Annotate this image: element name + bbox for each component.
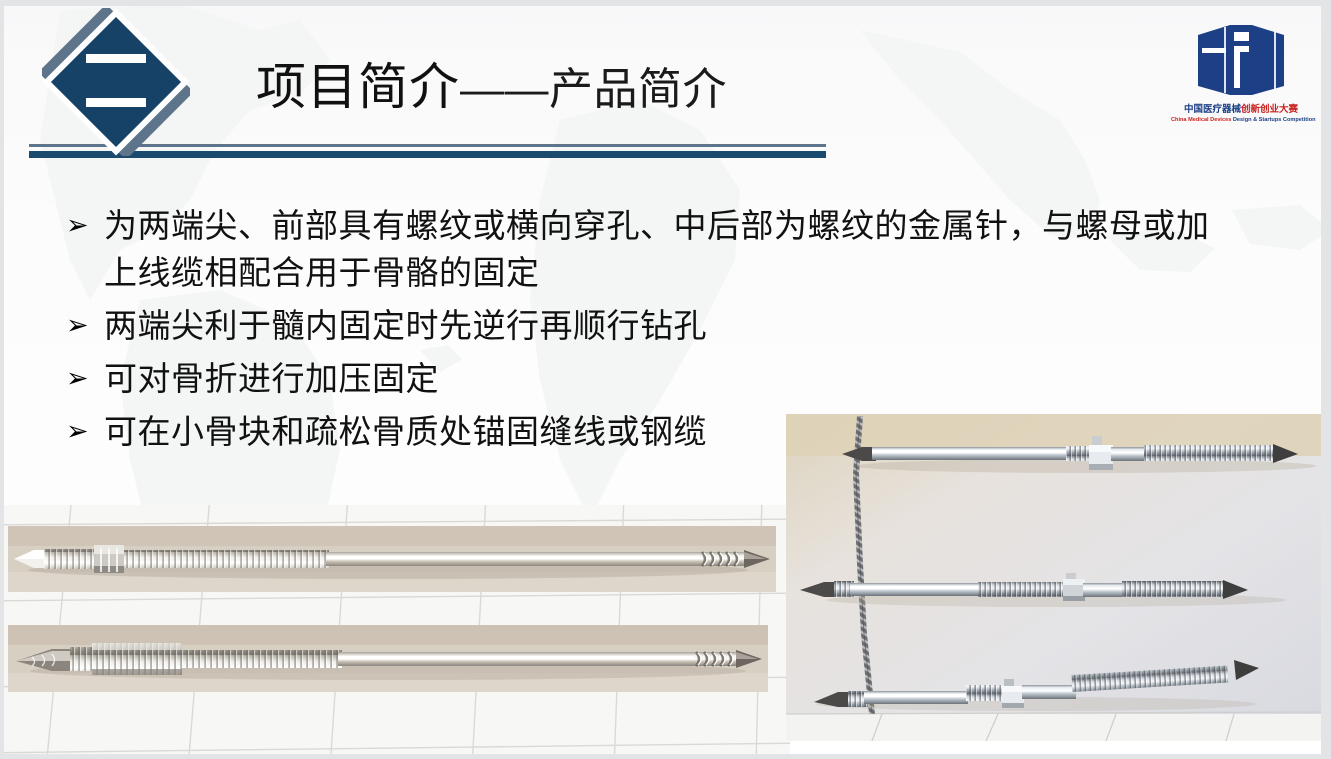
product-photo-pins-with-cable-assembly <box>786 414 1325 741</box>
competition-logo-en-text: China Medical Devices Design & Startups … <box>1171 117 1311 123</box>
diamond-logo-icon <box>42 8 190 156</box>
competition-logo-en-b: Design & Startups Competition <box>1231 117 1315 123</box>
list-item: ➢ 可在小骨块和疏松骨质处锚固缝线或钢缆 <box>60 408 1240 455</box>
product-photo-pin-with-nut <box>8 526 776 592</box>
arrow-bullet-icon: ➢ <box>60 355 104 402</box>
list-item-label: 可对骨折进行加压固定 <box>104 355 1240 402</box>
arrow-bullet-icon: ➢ <box>60 408 104 455</box>
page-title: 项目简介——产品简介 <box>256 62 727 112</box>
arrow-bullet-icon: ➢ <box>60 202 104 249</box>
slide-canvas: 项目简介——产品简介 中 <box>0 0 1331 759</box>
competition-logo-cn-b: 创新创业大赛 <box>1241 104 1298 115</box>
page-title-sub: ——产品简介 <box>460 65 727 114</box>
list-item: ➢ 可对骨折进行加压固定 <box>60 355 1240 402</box>
competition-logo-cn-a: 中国医疗器械 <box>1184 104 1241 115</box>
competition-logo-en-a: China Medical Devices <box>1171 117 1231 123</box>
open-door-logo-icon <box>1194 18 1288 102</box>
list-item: ➢ 为两端尖、前部具有螺纹或横向穿孔、中后部为螺纹的金属针，与螺母或加上线缆相配… <box>60 202 1240 296</box>
list-item-label: 为两端尖、前部具有螺纹或横向穿孔、中后部为螺纹的金属针，与螺母或加上线缆相配合用… <box>104 202 1240 296</box>
list-item-label: 可在小骨块和疏松骨质处锚固缝线或钢缆 <box>104 408 1240 455</box>
arrow-bullet-icon: ➢ <box>60 302 104 349</box>
bullet-list: ➢ 为两端尖、前部具有螺纹或横向穿孔、中后部为螺纹的金属针，与螺母或加上线缆相配… <box>60 202 1240 461</box>
competition-logo: 中国医疗器械创新创业大赛 China Medical Devices Desig… <box>1171 18 1311 150</box>
competition-logo-cn-text: 中国医疗器械创新创业大赛 <box>1171 105 1311 116</box>
page-title-main: 项目简介 <box>256 59 460 115</box>
list-item-label: 两端尖利于髓内固定时先逆行再顺行钻孔 <box>104 302 1240 349</box>
product-photo-pin-threaded <box>8 625 768 692</box>
list-item: ➢ 两端尖利于髓内固定时先逆行再顺行钻孔 <box>60 302 1240 349</box>
